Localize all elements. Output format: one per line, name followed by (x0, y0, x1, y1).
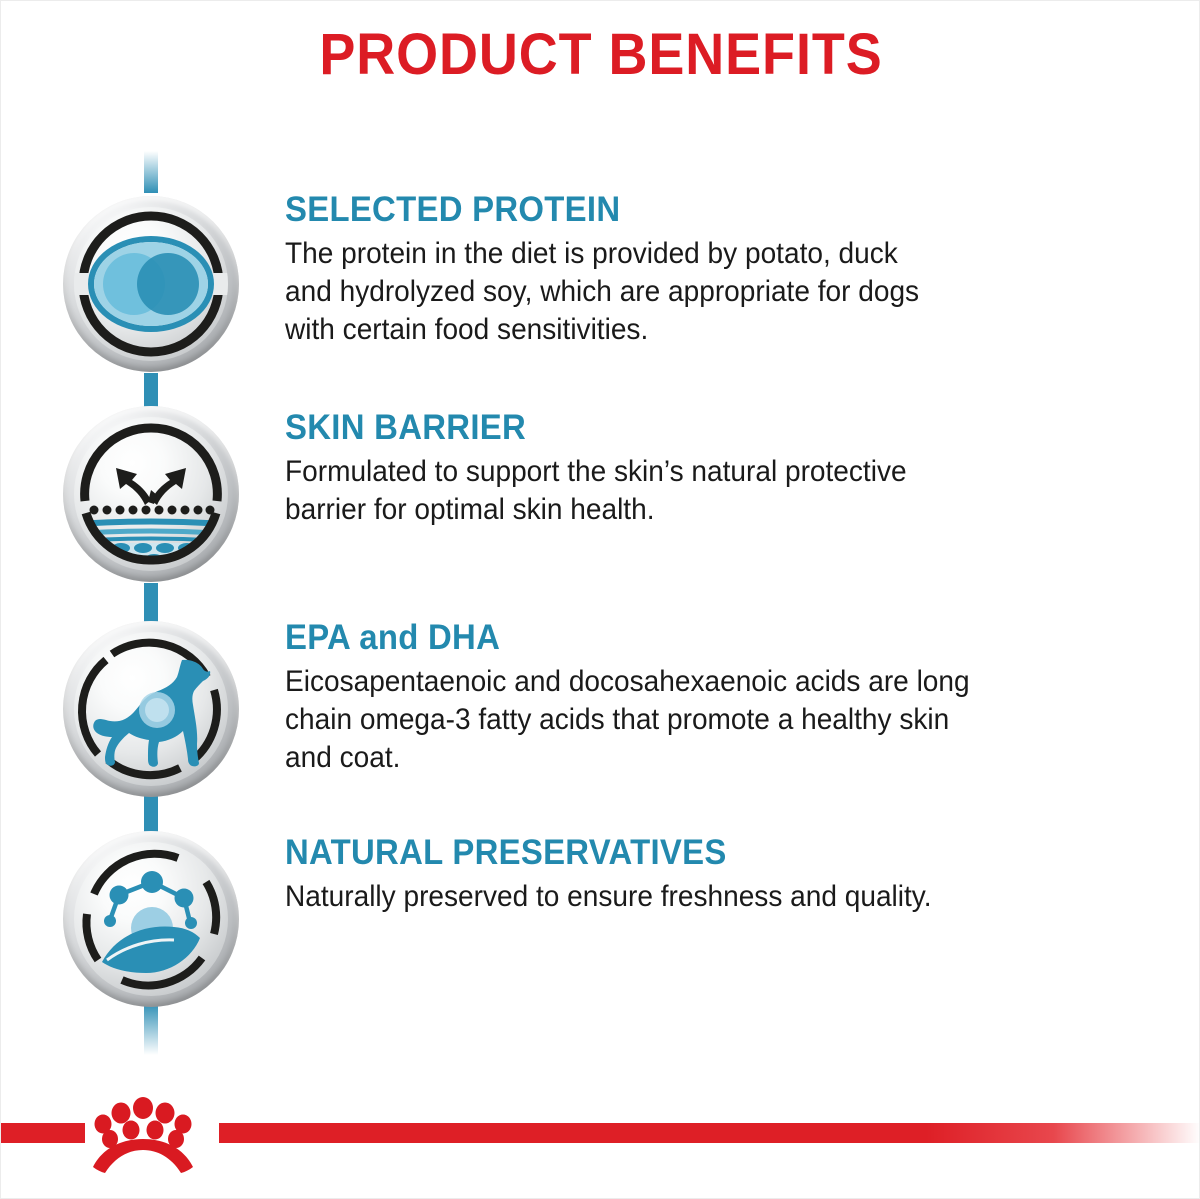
medallion-inner (74, 207, 228, 361)
benefit-body: Naturally preserved to ensure freshness … (285, 878, 1108, 916)
benefit-block-selected-protein: SELECTED PROTEIN The protein in the diet… (285, 191, 1165, 350)
benefit-title: NATURAL PRESERVATIVES (285, 834, 1112, 873)
black-ring-icon (74, 417, 228, 571)
benefit-icon-epa-dha (63, 621, 239, 797)
connector-dash (144, 151, 158, 193)
benefit-icon-skin-barrier (63, 406, 239, 582)
footer-bar-left (1, 1123, 85, 1143)
connector-dash (144, 793, 158, 835)
connector-dash (144, 1003, 158, 1055)
benefit-block-epa-dha: EPA and DHA Eicosapentaenoic and docosah… (285, 619, 1165, 778)
benefit-body: Eicosapentaenoic and docosahexaenoic aci… (285, 663, 1108, 778)
benefit-icon-selected-protein (63, 196, 239, 372)
medallion-inner (74, 417, 228, 571)
connector-dash (144, 583, 158, 625)
benefit-block-natural-preservatives: NATURAL PRESERVATIVES Naturally preserve… (285, 834, 1165, 916)
medallion-inner (74, 632, 228, 786)
benefit-title: EPA and DHA (285, 619, 1112, 658)
overlapping-circles-icon (74, 207, 228, 361)
benefit-block-skin-barrier: SKIN BARRIER Formulated to support the s… (285, 409, 1165, 529)
leaf-molecule-icon (74, 842, 228, 996)
dog-silhouette-icon (74, 632, 228, 786)
footer-bar-right (219, 1123, 1200, 1143)
benefit-body: Formulated to support the skin’s natural… (285, 453, 1108, 530)
benefit-body: The protein in the diet is provided by p… (285, 235, 1108, 350)
royal-canin-crown-logo (79, 1095, 207, 1175)
benefit-icon-natural-preservatives (63, 831, 239, 1007)
medallion-inner (74, 842, 228, 996)
benefit-title: SKIN BARRIER (285, 409, 1112, 448)
benefit-title: SELECTED PROTEIN (285, 191, 1112, 230)
page-title: PRODUCT BENEFITS (43, 25, 1159, 86)
product-benefits-page: PRODUCT BENEFITS (0, 0, 1200, 1199)
